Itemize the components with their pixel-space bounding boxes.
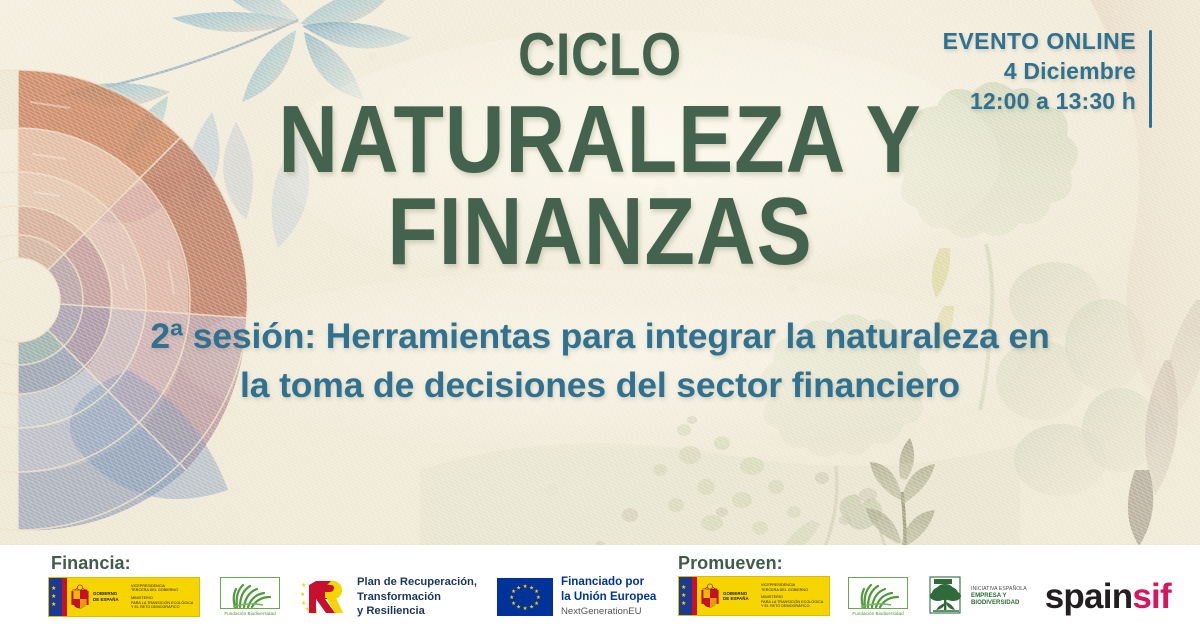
vicepresidencia-line-2: TERCERA DEL GOBIERNO <box>761 588 808 592</box>
eu-stars: ★★★ <box>681 584 686 608</box>
coat-of-arms-icon <box>67 578 93 616</box>
fundacion-biodiversidad-logo: Fundación Biodiversidad <box>220 577 280 616</box>
svg-text:★: ★ <box>523 584 528 590</box>
financia-label: Financia: <box>51 553 131 574</box>
ministerio-line-1: MINISTERIO <box>761 595 783 599</box>
gobierno-line-2: DE ESPAÑA <box>723 596 749 601</box>
promueven-label: Promueven: <box>678 553 783 574</box>
iniciativa-text: INICIATIVA ESPAÑOLA EMPRESA Y BIODIVERSI… <box>971 586 1027 606</box>
vicepresidencia-line-1: VICEPRESIDENCIA <box>131 584 165 588</box>
grass-icon <box>848 577 908 609</box>
coat-of-arms-icon <box>697 577 723 615</box>
svg-text:★: ★ <box>511 601 516 607</box>
ministerio-line-3: Y EL RETO DEMOGRÁFICO <box>131 605 180 609</box>
grass-icon <box>220 577 280 609</box>
eu-flag-icon: ★★ ★★ ★★ ★★ ★★ ★★ <box>497 578 553 616</box>
ministerio-line-2: PARA LA TRANSICIÓN ECOLÓGICA <box>761 600 823 604</box>
plan-line-3: y Resiliencia <box>357 604 477 619</box>
session-subtitle-line-2: la toma de decisiones del sector financi… <box>85 361 1115 410</box>
iniciativa-empresa-biodiversidad-logo: INICIATIVA ESPAÑOLA EMPRESA Y BIODIVERSI… <box>926 575 1027 617</box>
gobierno-line-1: GOBIERNO <box>723 591 747 596</box>
eu-flag-column: ★★★ <box>679 577 692 615</box>
eu-line-1: Financiado por <box>561 575 656 590</box>
vicepresidencia-line-2: TERCERA DEL GOBIERNO <box>131 588 178 592</box>
ministerio-text: VICEPRESIDENCIA TERCERA DEL GOBIERNO MIN… <box>757 583 823 609</box>
tree-icon <box>926 575 966 617</box>
ministerio-text: VICEPRESIDENCIA TERCERA DEL GOBIERNO MIN… <box>127 584 193 610</box>
svg-text:★: ★ <box>301 582 306 589</box>
iniciativa-line-3: BIODIVERSIDAD <box>971 599 1027 606</box>
vicepresidencia-line-1: VICEPRESIDENCIA <box>761 583 795 587</box>
session-subtitle: 2ª sesión: Herramientas para integrar la… <box>85 312 1115 410</box>
event-meta-block: EVENTO ONLINE 4 Diciembre 12:00 a 13:30 … <box>943 27 1136 117</box>
gobierno-de-espana-logo-promueven: ★★★ GOBIERNO DE ESPAÑA <box>678 576 830 616</box>
eu-stars: ★★★ <box>51 585 56 609</box>
footer-logo-bar: Financia: Promueven: ★★★ <box>0 545 1200 628</box>
plan-line-1: Plan de Recuperación, <box>357 575 477 590</box>
ministerio-line-3: Y EL RETO DEMOGRÁFICO <box>761 604 810 608</box>
gobierno-line-2: DE ESPAÑA <box>93 597 119 602</box>
gobierno-text: GOBIERNO DE ESPAÑA <box>93 591 127 602</box>
svg-text:★: ★ <box>300 591 305 598</box>
promueven-logo-row: ★★★ GOBIERNO DE ESPAÑA <box>678 575 1171 617</box>
svg-text:★: ★ <box>529 604 534 610</box>
poster-canvas: CICLO NATURALEZA Y FINANZAS EVENTO ONLIN… <box>0 0 1200 628</box>
spainsif-logo: spainsif <box>1045 579 1171 614</box>
svg-text:★: ★ <box>534 601 539 607</box>
union-europea-text: Financiado por la Unión Europea NextGene… <box>561 575 656 618</box>
poster-title-line-2: FINANZAS <box>84 186 1116 278</box>
spainsif-part-2: sif <box>1132 577 1171 616</box>
fundacion-biodiversidad-caption: Fundación Biodiversidad <box>220 611 280 616</box>
iniciativa-line-1: INICIATIVA ESPAÑOLA <box>971 586 1027 592</box>
ministerio-line-2: PARA LA TRANSICIÓN ECOLÓGICA <box>131 601 193 605</box>
plan-pr-mark-icon: ★ ★ ★ ★ ★ <box>300 577 350 617</box>
plan-recuperacion-logo: ★ ★ ★ ★ ★ Plan de Recuperación, Transfor… <box>300 575 477 619</box>
eu-line-2: la Unión Europea <box>561 590 656 605</box>
svg-text:★: ★ <box>301 600 306 607</box>
event-time: 12:00 a 13:30 h <box>943 87 1136 117</box>
gobierno-text: GOBIERNO DE ESPAÑA <box>723 591 757 602</box>
iniciativa-line-2: EMPRESA Y <box>971 592 1027 599</box>
svg-text:★: ★ <box>516 604 521 610</box>
event-meta-divider <box>1149 30 1152 128</box>
plan-line-2: Transformación <box>357 590 477 605</box>
svg-text:★: ★ <box>516 585 521 591</box>
eu-next-generation: NextGenerationEU <box>561 606 656 618</box>
svg-text:★: ★ <box>523 606 528 612</box>
union-europea-logo: ★★ ★★ ★★ ★★ ★★ ★★ Financiado por la Unió… <box>497 575 656 618</box>
event-date: 4 Diciembre <box>943 57 1136 87</box>
eu-flag-column: ★★★ <box>49 578 62 616</box>
plan-recuperacion-text: Plan de Recuperación, Transformación y R… <box>357 575 477 619</box>
fundacion-biodiversidad-caption: Fundación Biodiversidad <box>848 611 908 616</box>
financia-logo-row: ★★★ GOBIERNO DE ESPAÑA <box>48 575 656 619</box>
fundacion-biodiversidad-logo-promueven: Fundación Biodiversidad <box>848 577 908 616</box>
session-subtitle-line-1: 2ª sesión: Herramientas para integrar la… <box>85 312 1115 361</box>
gobierno-de-espana-logo: ★★★ GOBIERNO DE ESPAÑA <box>48 577 200 617</box>
event-mode: EVENTO ONLINE <box>943 27 1136 57</box>
spainsif-part-1: spain <box>1045 577 1133 616</box>
gobierno-line-1: GOBIERNO <box>93 591 117 596</box>
svg-text:★: ★ <box>509 595 514 601</box>
ministerio-line-1: MINISTERIO <box>131 596 153 600</box>
